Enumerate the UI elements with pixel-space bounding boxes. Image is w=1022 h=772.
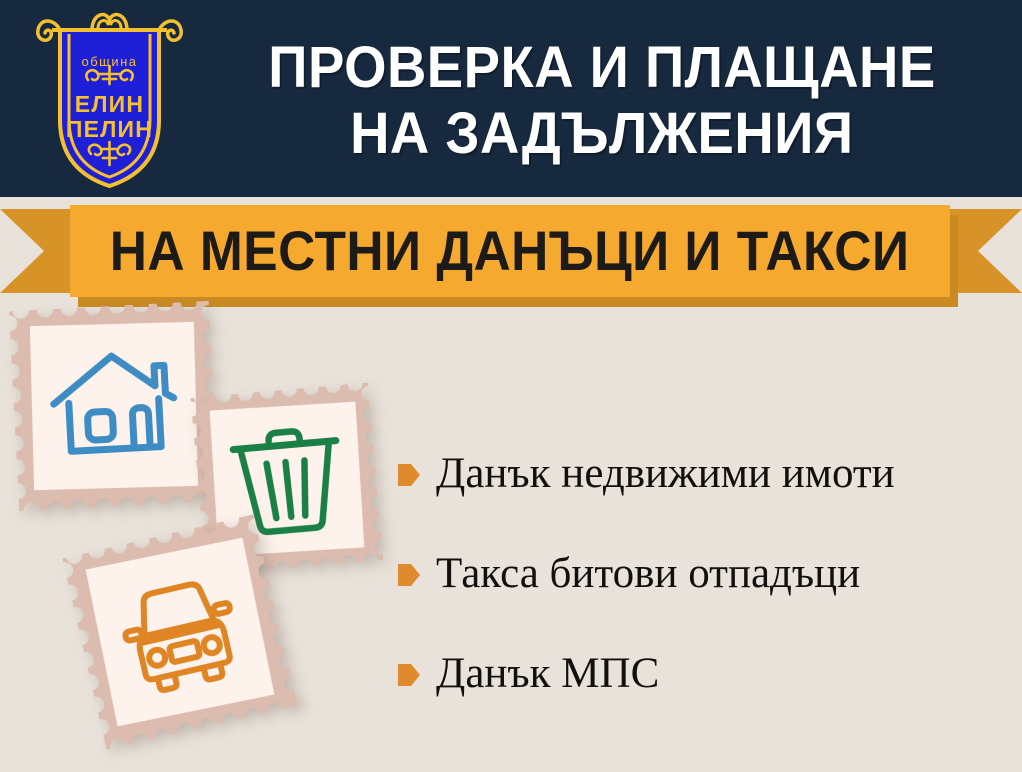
tax-type-list: Данък недвижими имоти Такса битови отпад… (398, 424, 1012, 724)
subtitle-ribbon: НА МЕСТНИ ДАНЪЦИ И ТАКСИ (0, 197, 1022, 302)
page-title-line-1: ПРОВЕРКА И ПЛАЩАНЕ (268, 35, 935, 101)
list-item-label: Данък МПС (436, 650, 659, 698)
ribbon-label: НА МЕСТНИ ДАНЪЦИ И ТАКСИ (110, 222, 910, 280)
stamp-card-group (0, 302, 420, 772)
list-item-label: Данък недвижими имоти (436, 450, 895, 498)
list-item-label: Такса битови отпадъци (436, 550, 860, 598)
header-bar: община ЕЛИН ПЕЛИН (0, 0, 1022, 197)
page-title: ПРОВЕРКА И ПЛАЩАНЕ НА ЗАДЪЛЖЕНИЯ (196, 18, 1008, 183)
stamp-card-house (9, 301, 219, 511)
coat-of-arms-icon: община ЕЛИН ПЕЛИН (32, 8, 187, 190)
svg-text:ЕЛИН: ЕЛИН (75, 91, 144, 117)
list-item[interactable]: Данък недвижими имоти (398, 424, 1012, 524)
arrow-pentagon-bullet-icon (398, 462, 420, 488)
arrow-pentagon-bullet-icon (398, 562, 420, 588)
list-item[interactable]: Данък МПС (398, 624, 1012, 724)
page-title-line-2: НА ЗАДЪЛЖЕНИЯ (350, 101, 853, 167)
poster-root: община ЕЛИН ПЕЛИН (0, 0, 1022, 772)
arrow-pentagon-bullet-icon (398, 662, 420, 688)
svg-text:ПЕЛИН: ПЕЛИН (66, 116, 153, 142)
ribbon-face: НА МЕСТНИ ДАНЪЦИ И ТАКСИ (70, 205, 950, 297)
list-item[interactable]: Такса битови отпадъци (398, 524, 1012, 624)
